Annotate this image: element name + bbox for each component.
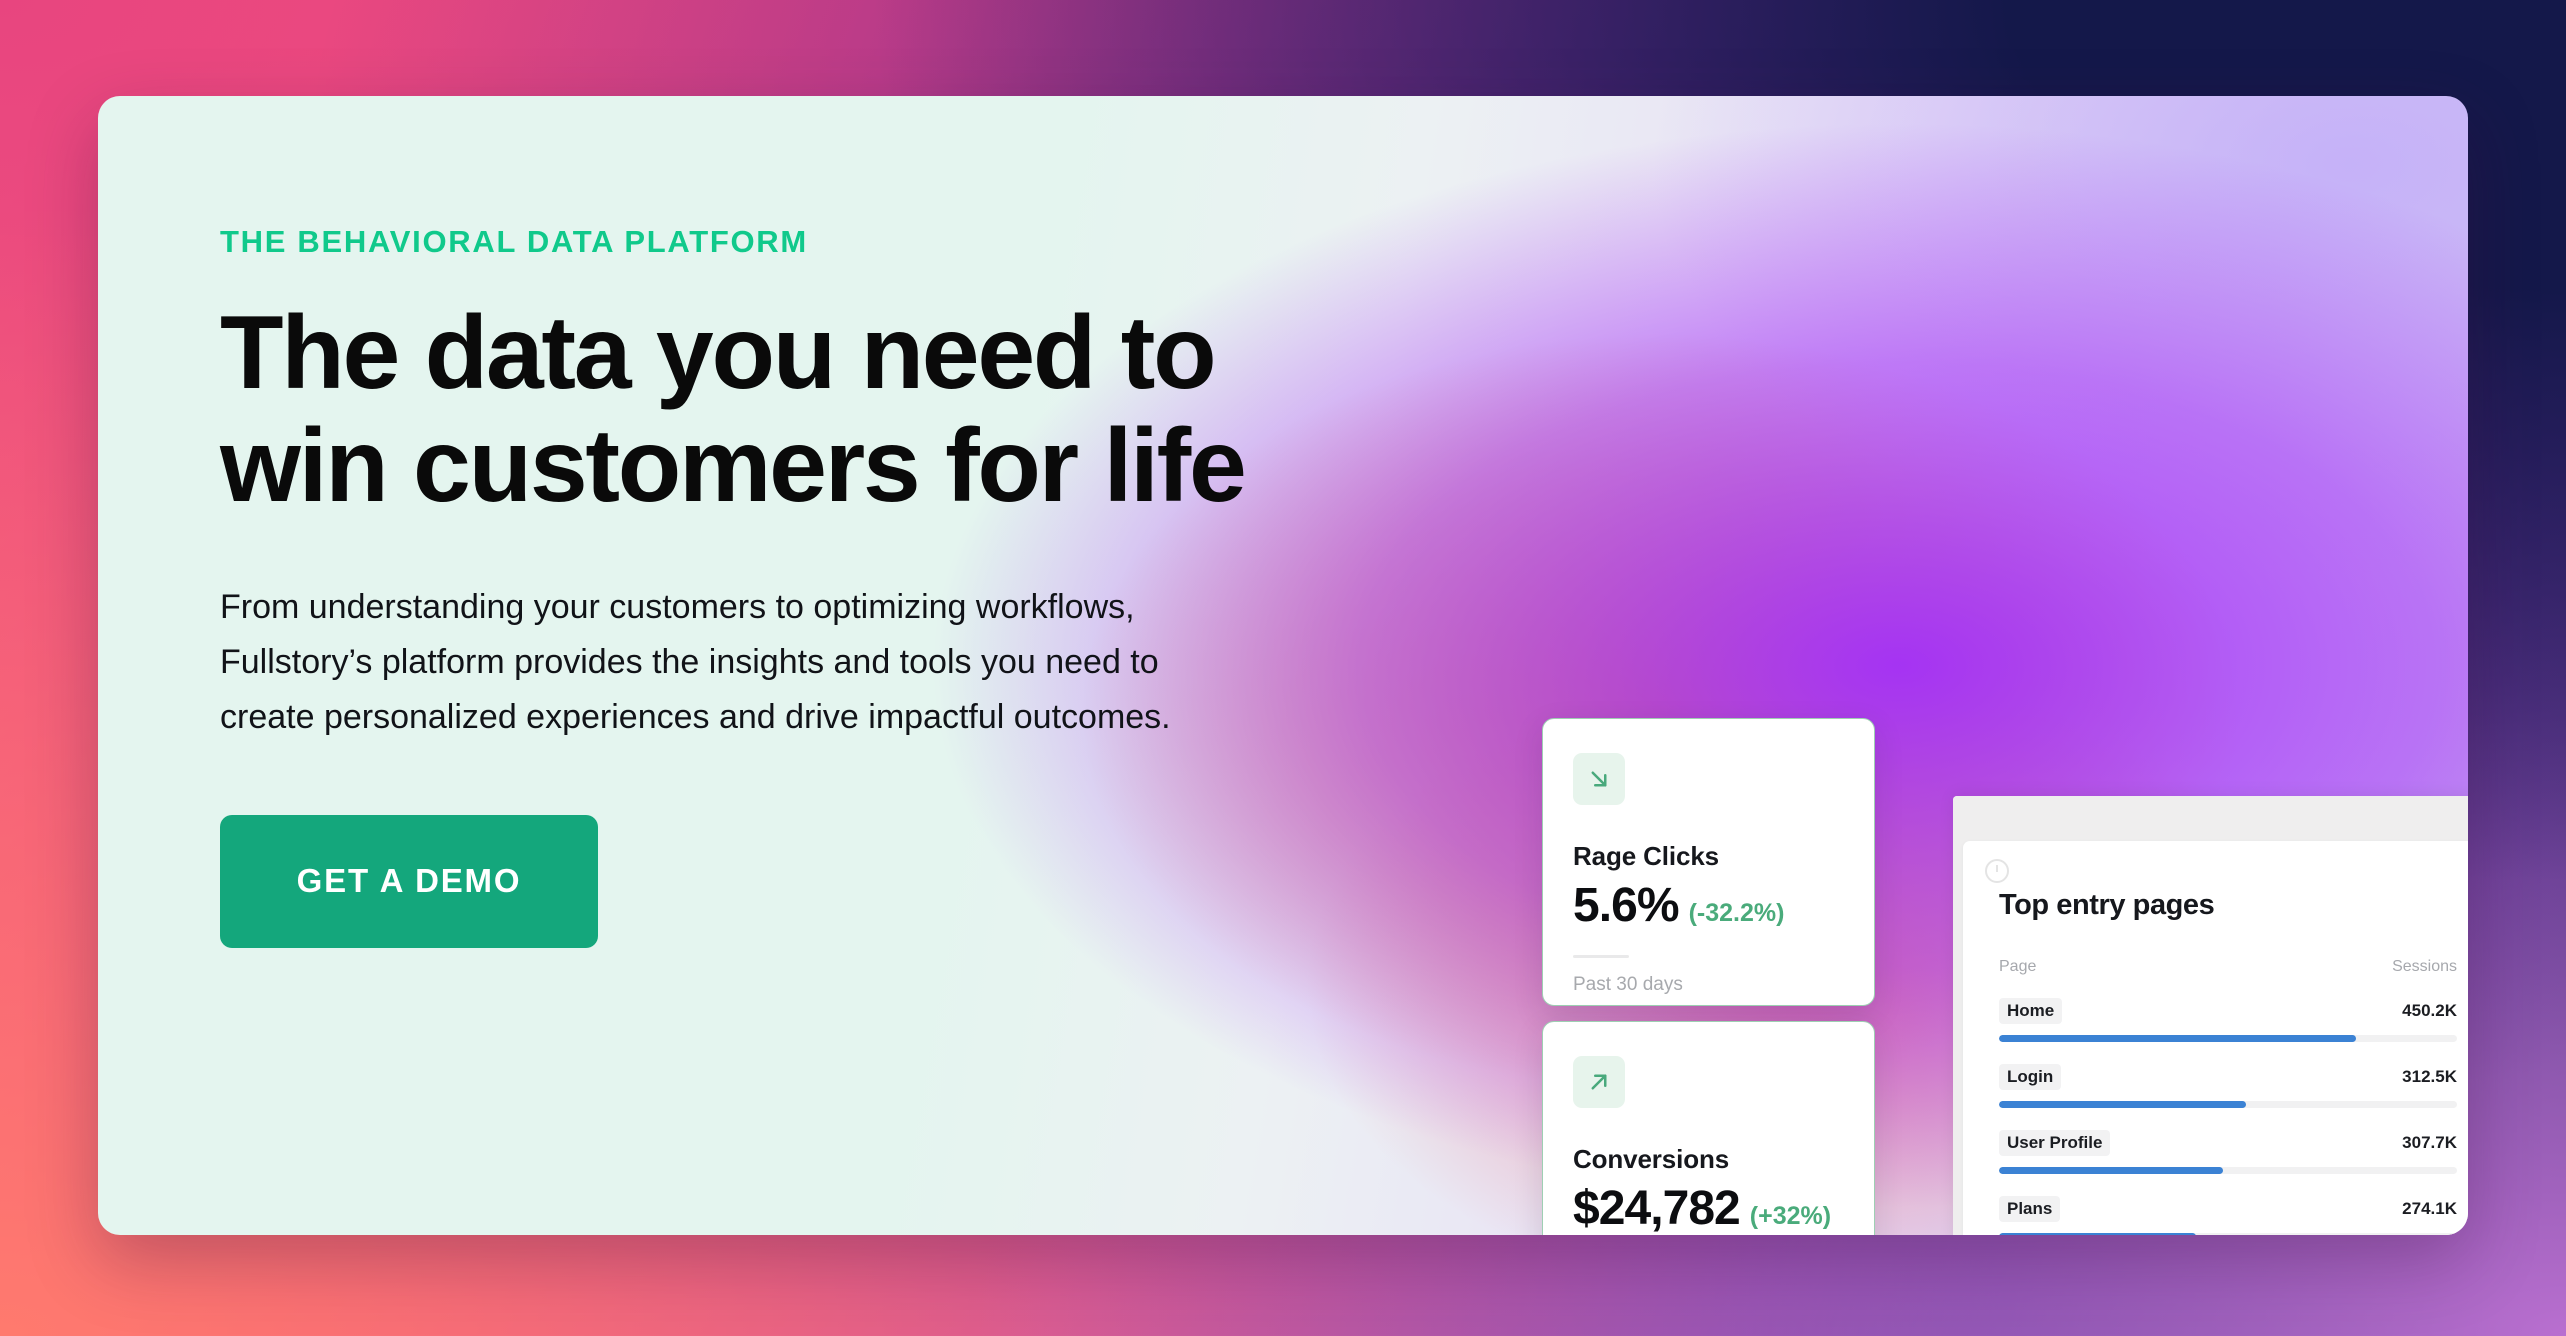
entry-sessions-value: 274.1K	[2402, 1199, 2457, 1219]
get-a-demo-button[interactable]: GET A DEMO	[220, 815, 598, 948]
headline-line-1: The data you need to	[220, 295, 1214, 411]
table-row[interactable]: Plans 274.1K	[1999, 1196, 2457, 1235]
entry-page-name: User Profile	[1999, 1130, 2110, 1156]
hero-panel: THE BEHAVIORAL DATA PLATFORM The data yo…	[98, 96, 2468, 1235]
entry-bar-fill	[1999, 1101, 2246, 1108]
entry-bar-track	[1999, 1101, 2457, 1108]
eyebrow-label: THE BEHAVIORAL DATA PLATFORM	[220, 226, 1540, 257]
entry-sessions-value: 450.2K	[2402, 1001, 2457, 1021]
entry-sessions-value: 307.7K	[2402, 1133, 2457, 1153]
dashboard-mock: Top entry pages Page Sessions Home 450.2…	[1953, 796, 2468, 1235]
entry-sessions-value: 312.5K	[2402, 1067, 2457, 1087]
table-header-row: Page Sessions	[1999, 958, 2457, 976]
hero-copy-block: THE BEHAVIORAL DATA PLATFORM The data yo…	[220, 226, 1540, 948]
stat-value-row: $24,782 (+32%)	[1573, 1181, 1844, 1235]
entry-bar-fill	[1999, 1233, 2196, 1235]
arrow-down-right-icon	[1573, 753, 1625, 805]
headline-line-2: win customers for life	[220, 408, 1245, 524]
entry-page-name: Plans	[1999, 1196, 2060, 1222]
top-entry-pages-panel: Top entry pages Page Sessions Home 450.2…	[1963, 841, 2468, 1235]
stat-divider	[1573, 955, 1629, 958]
table-row[interactable]: Login 312.5K	[1999, 1064, 2457, 1108]
column-header-sessions: Sessions	[2392, 958, 2457, 976]
table-row[interactable]: User Profile 307.7K	[1999, 1130, 2457, 1174]
clock-icon	[1985, 859, 2009, 883]
stat-card-conversions[interactable]: Conversions $24,782 (+32%) Past 30 days	[1542, 1021, 1875, 1235]
page-backdrop: THE BEHAVIORAL DATA PLATFORM The data yo…	[0, 0, 2566, 1336]
entry-bar-fill	[1999, 1035, 2356, 1042]
stat-label: Rage Clicks	[1573, 841, 1844, 872]
entry-bar-track	[1999, 1233, 2457, 1235]
stat-value-row: 5.6% (-32.2%)	[1573, 878, 1844, 933]
stat-period: Past 30 days	[1573, 974, 1844, 996]
stat-label: Conversions	[1573, 1144, 1844, 1175]
panel-title: Top entry pages	[1999, 889, 2457, 922]
page-title: The data you need to win customers for l…	[220, 297, 1540, 524]
arrow-up-right-icon	[1573, 1056, 1625, 1108]
dashboard-body: Top entry pages Page Sessions Home 450.2…	[1953, 841, 2468, 1235]
dashboard-topbar	[1953, 796, 2468, 841]
hero-subcopy: From understanding your customers to opt…	[220, 580, 1250, 745]
table-row[interactable]: Home 450.2K	[1999, 998, 2457, 1042]
entry-bar-track	[1999, 1167, 2457, 1174]
stat-card-rage-clicks[interactable]: Rage Clicks 5.6% (-32.2%) Past 30 days	[1542, 718, 1875, 1006]
stat-value: $24,782	[1573, 1181, 1740, 1235]
column-header-page: Page	[1999, 958, 2036, 976]
entry-page-name: Home	[1999, 998, 2062, 1024]
stat-delta: (-32.2%)	[1689, 899, 1785, 928]
entry-bar-track	[1999, 1035, 2457, 1042]
stat-delta: (+32%)	[1750, 1202, 1831, 1231]
entry-page-name: Login	[1999, 1064, 2061, 1090]
stat-value: 5.6%	[1573, 878, 1679, 933]
entry-bar-fill	[1999, 1167, 2223, 1174]
